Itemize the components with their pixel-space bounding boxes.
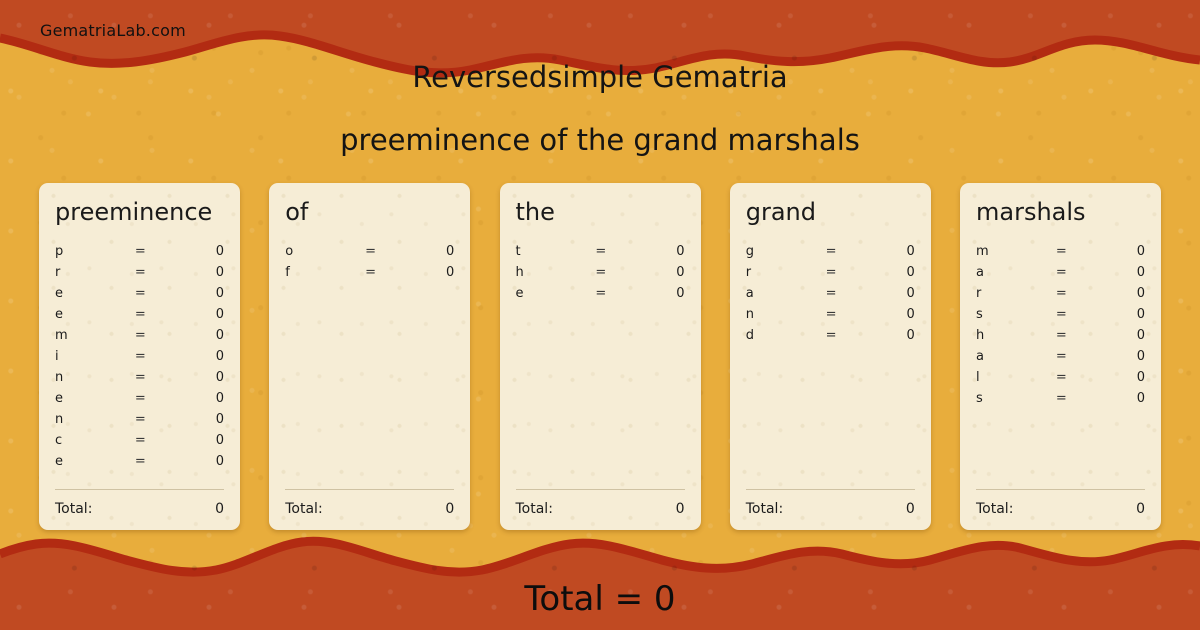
card-word-title: the xyxy=(516,199,685,225)
equals-sign: = xyxy=(112,454,168,469)
letter-row: r=0 xyxy=(746,262,915,283)
letter-row: f=0 xyxy=(285,262,454,283)
letter-row: a=0 xyxy=(976,262,1145,283)
equals-sign: = xyxy=(112,286,168,301)
letter-value: 0 xyxy=(398,244,454,259)
card-word-title: of xyxy=(285,199,454,225)
letter-row: n=0 xyxy=(55,409,224,430)
letter-row: e=0 xyxy=(55,304,224,325)
letter-char: s xyxy=(976,391,1033,406)
letter-value: 0 xyxy=(1089,307,1145,322)
equals-sign: = xyxy=(803,307,859,322)
equals-sign: = xyxy=(343,244,399,259)
letter-row: e=0 xyxy=(55,283,224,304)
equals-sign: = xyxy=(343,265,399,280)
site-name: GematriaLab.com xyxy=(40,21,186,40)
equals-sign: = xyxy=(1033,391,1089,406)
equals-sign: = xyxy=(1033,265,1089,280)
card-total-value: 0 xyxy=(215,501,224,517)
letter-value: 0 xyxy=(859,307,915,322)
phrase-subtitle: preeminence of the grand marshals xyxy=(0,123,1200,157)
letter-char: g xyxy=(746,244,803,259)
letter-value: 0 xyxy=(168,370,224,385)
letter-char: a xyxy=(976,265,1033,280)
letter-row: l=0 xyxy=(976,367,1145,388)
card-total-value: 0 xyxy=(1136,501,1145,517)
word-card: grandg=0r=0a=0n=0d=0Total:0 xyxy=(730,183,931,530)
card-total-label: Total: xyxy=(55,501,92,517)
letter-char: a xyxy=(976,349,1033,364)
letter-char: h xyxy=(516,265,573,280)
letter-value: 0 xyxy=(398,265,454,280)
letter-value: 0 xyxy=(1089,370,1145,385)
word-card: preeminencep=0r=0e=0e=0m=0i=0n=0e=0n=0c=… xyxy=(39,183,240,530)
word-cards-container: preeminencep=0r=0e=0e=0m=0i=0n=0e=0n=0c=… xyxy=(39,183,1161,533)
card-total-value: 0 xyxy=(676,501,685,517)
letter-char: e xyxy=(55,391,112,406)
letter-row: n=0 xyxy=(746,304,915,325)
letter-value-list: g=0r=0a=0n=0d=0 xyxy=(746,241,915,346)
letter-char: m xyxy=(55,328,112,343)
letter-value: 0 xyxy=(1089,328,1145,343)
card-spacer xyxy=(285,283,454,480)
equals-sign: = xyxy=(1033,349,1089,364)
equals-sign: = xyxy=(112,328,168,343)
gematria-result-page: GematriaLab.com Reversedsimple Gematria … xyxy=(0,0,1200,630)
letter-char: h xyxy=(976,328,1033,343)
equals-sign: = xyxy=(112,433,168,448)
letter-char: d xyxy=(746,328,803,343)
letter-char: f xyxy=(285,265,342,280)
letter-value: 0 xyxy=(859,265,915,280)
letter-value: 0 xyxy=(859,244,915,259)
equals-sign: = xyxy=(573,244,629,259)
letter-row: a=0 xyxy=(746,283,915,304)
letter-value: 0 xyxy=(1089,286,1145,301)
letter-value: 0 xyxy=(168,433,224,448)
equals-sign: = xyxy=(112,265,168,280)
letter-char: m xyxy=(976,244,1033,259)
letter-char: p xyxy=(55,244,112,259)
card-total-row: Total:0 xyxy=(55,489,224,517)
card-total-row: Total:0 xyxy=(516,489,685,517)
letter-char: s xyxy=(976,307,1033,322)
letter-row: a=0 xyxy=(976,346,1145,367)
letter-char: r xyxy=(55,265,112,280)
card-spacer xyxy=(516,304,685,480)
letter-value: 0 xyxy=(168,349,224,364)
letter-row: i=0 xyxy=(55,346,224,367)
letter-value: 0 xyxy=(168,412,224,427)
letter-row: e=0 xyxy=(55,388,224,409)
letter-char: t xyxy=(516,244,573,259)
letter-char: e xyxy=(516,286,573,301)
letter-row: p=0 xyxy=(55,241,224,262)
equals-sign: = xyxy=(803,328,859,343)
letter-char: o xyxy=(285,244,342,259)
equals-sign: = xyxy=(112,349,168,364)
letter-row: n=0 xyxy=(55,367,224,388)
equals-sign: = xyxy=(1033,307,1089,322)
card-word-title: grand xyxy=(746,199,915,225)
card-total-row: Total:0 xyxy=(285,489,454,517)
equals-sign: = xyxy=(573,265,629,280)
letter-value: 0 xyxy=(168,454,224,469)
word-card: thet=0h=0e=0Total:0 xyxy=(500,183,701,530)
letter-row: m=0 xyxy=(976,241,1145,262)
card-total-label: Total: xyxy=(746,501,783,517)
letter-char: n xyxy=(746,307,803,322)
letter-row: o=0 xyxy=(285,241,454,262)
equals-sign: = xyxy=(112,391,168,406)
letter-value: 0 xyxy=(168,244,224,259)
equals-sign: = xyxy=(803,265,859,280)
letter-row: g=0 xyxy=(746,241,915,262)
equals-sign: = xyxy=(1033,328,1089,343)
letter-char: a xyxy=(746,286,803,301)
word-card: marshalsm=0a=0r=0s=0h=0a=0l=0s=0Total:0 xyxy=(960,183,1161,530)
card-word-title: marshals xyxy=(976,199,1145,225)
letter-value-list: o=0f=0 xyxy=(285,241,454,283)
equals-sign: = xyxy=(112,370,168,385)
letter-char: r xyxy=(976,286,1033,301)
letter-row: s=0 xyxy=(976,388,1145,409)
equals-sign: = xyxy=(112,412,168,427)
card-spacer xyxy=(746,346,915,480)
card-total-row: Total:0 xyxy=(746,489,915,517)
letter-value: 0 xyxy=(168,286,224,301)
letter-value: 0 xyxy=(629,244,685,259)
equals-sign: = xyxy=(112,307,168,322)
letter-value: 0 xyxy=(1089,244,1145,259)
letter-value-list: t=0h=0e=0 xyxy=(516,241,685,304)
letter-value: 0 xyxy=(629,286,685,301)
letter-char: r xyxy=(746,265,803,280)
letter-row: d=0 xyxy=(746,325,915,346)
card-total-row: Total:0 xyxy=(976,489,1145,517)
letter-value: 0 xyxy=(1089,391,1145,406)
letter-value: 0 xyxy=(629,265,685,280)
equals-sign: = xyxy=(1033,286,1089,301)
letter-value: 0 xyxy=(859,286,915,301)
letter-char: n xyxy=(55,412,112,427)
letter-row: c=0 xyxy=(55,430,224,451)
letter-row: s=0 xyxy=(976,304,1145,325)
letter-value: 0 xyxy=(168,265,224,280)
card-total-label: Total: xyxy=(976,501,1013,517)
letter-char: n xyxy=(55,370,112,385)
card-total-value: 0 xyxy=(445,501,454,517)
word-card: ofo=0f=0Total:0 xyxy=(269,183,470,530)
letter-char: e xyxy=(55,286,112,301)
equals-sign: = xyxy=(112,244,168,259)
letter-row: r=0 xyxy=(55,262,224,283)
card-spacer xyxy=(55,472,224,480)
equals-sign: = xyxy=(803,244,859,259)
equals-sign: = xyxy=(573,286,629,301)
letter-value: 0 xyxy=(1089,265,1145,280)
letter-row: t=0 xyxy=(516,241,685,262)
letter-char: e xyxy=(55,454,112,469)
letter-value: 0 xyxy=(859,328,915,343)
card-total-label: Total: xyxy=(516,501,553,517)
letter-row: e=0 xyxy=(516,283,685,304)
letter-char: i xyxy=(55,349,112,364)
letter-char: e xyxy=(55,307,112,322)
letter-row: m=0 xyxy=(55,325,224,346)
page-title: Reversedsimple Gematria xyxy=(0,60,1200,94)
letter-value-list: p=0r=0e=0e=0m=0i=0n=0e=0n=0c=0e=0 xyxy=(55,241,224,472)
card-word-title: preeminence xyxy=(55,199,224,225)
letter-row: e=0 xyxy=(55,451,224,472)
letter-row: r=0 xyxy=(976,283,1145,304)
card-total-value: 0 xyxy=(906,501,915,517)
letter-value-list: m=0a=0r=0s=0h=0a=0l=0s=0 xyxy=(976,241,1145,409)
equals-sign: = xyxy=(1033,244,1089,259)
letter-value: 0 xyxy=(1089,349,1145,364)
letter-row: h=0 xyxy=(976,325,1145,346)
letter-value: 0 xyxy=(168,328,224,343)
equals-sign: = xyxy=(803,286,859,301)
card-total-label: Total: xyxy=(285,501,322,517)
letter-value: 0 xyxy=(168,391,224,406)
letter-char: l xyxy=(976,370,1033,385)
equals-sign: = xyxy=(1033,370,1089,385)
letter-char: c xyxy=(55,433,112,448)
letter-value: 0 xyxy=(168,307,224,322)
letter-row: h=0 xyxy=(516,262,685,283)
card-spacer xyxy=(976,409,1145,480)
grand-total: Total = 0 xyxy=(0,579,1200,619)
